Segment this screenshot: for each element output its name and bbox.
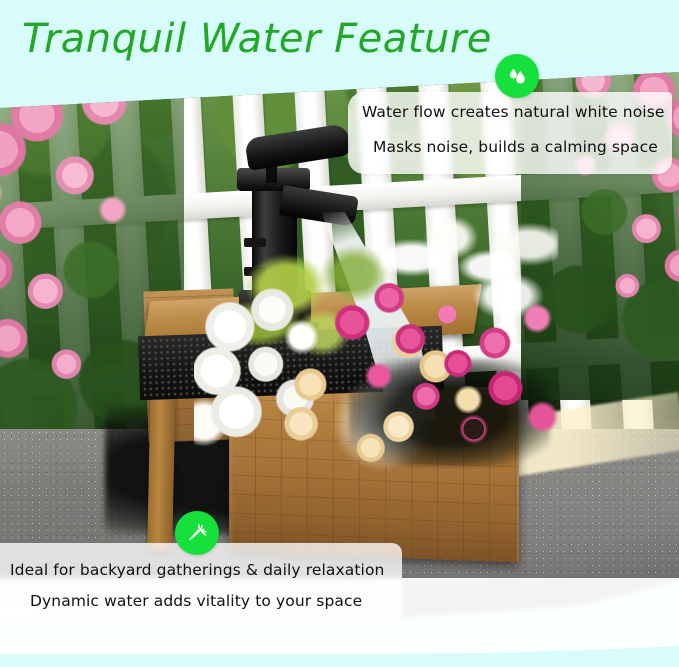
top-feature-line-1: Water flow creates natural white noise bbox=[362, 103, 665, 121]
top-feature-line-2: Masks noise, builds a calming space bbox=[373, 138, 658, 156]
planter-leg bbox=[148, 377, 177, 551]
marketing-image: Tranquil Water Feature bbox=[0, 0, 679, 667]
bottom-feature-line-1: Ideal for backyard gatherings & daily re… bbox=[10, 561, 384, 579]
bottom-feature-line-2: Dynamic water adds vitality to your spac… bbox=[30, 592, 362, 610]
water-spray-icon bbox=[175, 511, 219, 555]
pink-roses bbox=[310, 261, 573, 466]
floral-arrangement bbox=[194, 232, 581, 476]
water-drops-icon bbox=[495, 54, 539, 98]
page-title: Tranquil Water Feature bbox=[22, 14, 542, 66]
